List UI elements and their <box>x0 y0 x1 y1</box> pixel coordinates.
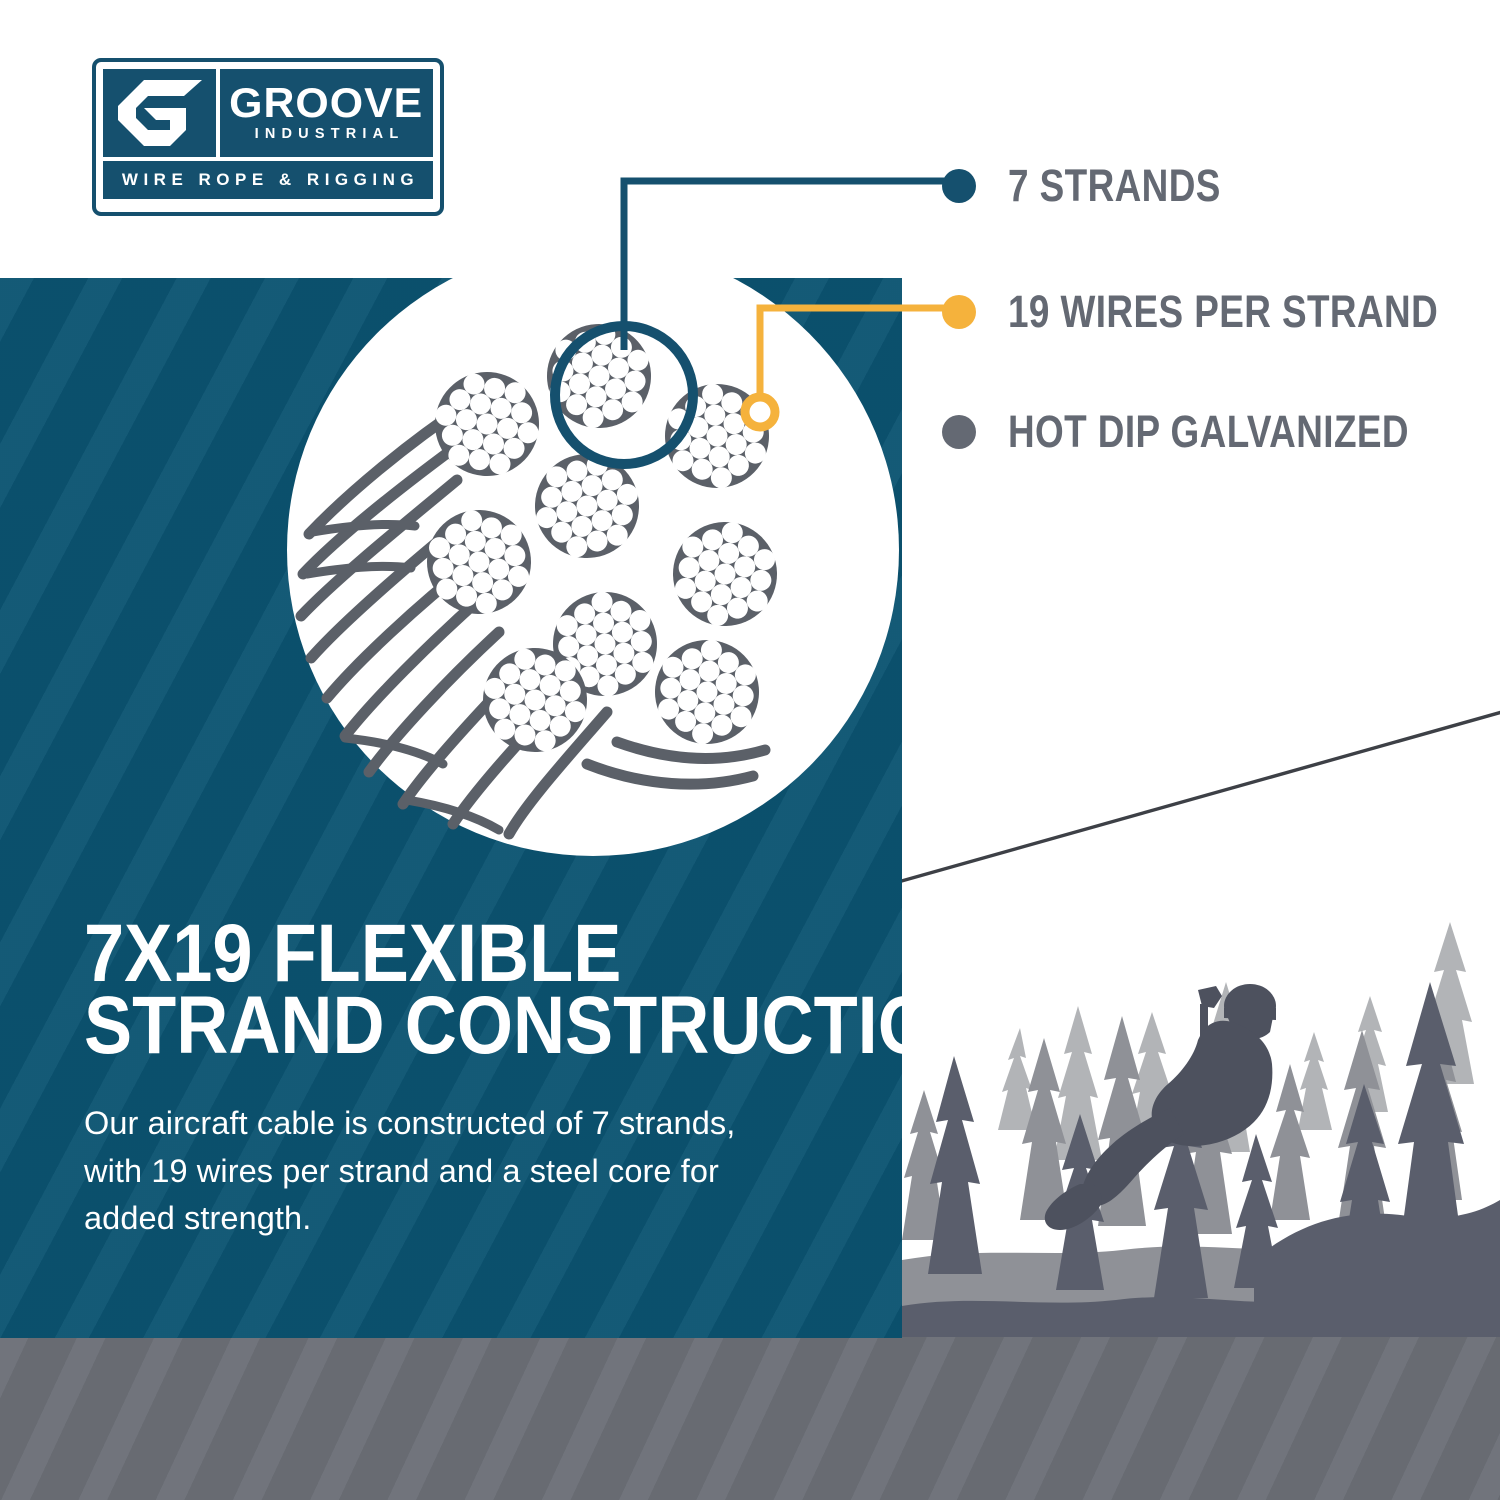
connector-line-orange <box>760 308 946 412</box>
callout-label-strands: 7 STRANDS <box>1008 160 1221 212</box>
body-copy: Our aircraft cable is constructed of 7 s… <box>84 1100 764 1242</box>
ring-marker-orange <box>745 397 775 427</box>
headline-block: 7X19 FLEXIBLESTRAND CONSTRUCTION Our air… <box>84 918 874 1243</box>
callout-wires-per-strand[interactable]: 19 WIRES PER STRAND <box>942 286 1500 338</box>
callout-label-galvanized: HOT DIP GALVANIZED <box>1008 406 1409 458</box>
callout-dot-navy <box>942 169 976 203</box>
bottom-band <box>0 1337 1500 1500</box>
infographic-canvas: GROOVE INDUSTRIAL WIRE ROPE & RIGGING 7 … <box>0 0 1500 1500</box>
headline-line2: STRAND CONSTRUCTION <box>84 990 779 1062</box>
connector-line-navy <box>624 181 946 350</box>
callout-strands[interactable]: 7 STRANDS <box>942 160 1268 212</box>
callout-dot-orange <box>942 295 976 329</box>
callout-dot-gray <box>942 415 976 449</box>
callout-galvanized[interactable]: HOT DIP GALVANIZED <box>942 406 1497 458</box>
page-title: 7X19 FLEXIBLESTRAND CONSTRUCTION <box>84 918 779 1062</box>
callout-label-wires: 19 WIRES PER STRAND <box>1008 286 1438 338</box>
